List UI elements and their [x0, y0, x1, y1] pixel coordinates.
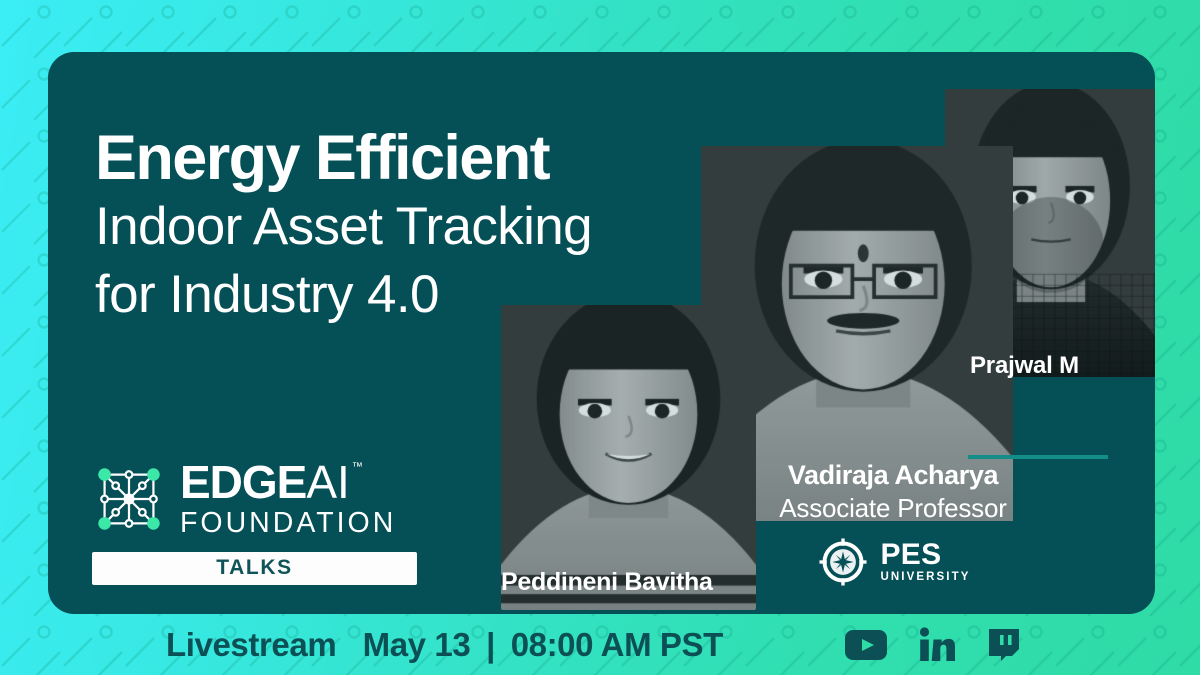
speaker-photo-peddineni-bavitha: [501, 305, 756, 610]
logo-trademark-icon: ™: [352, 462, 362, 473]
logo-row: EDGE AI ™ FOUNDATION: [92, 460, 417, 538]
livestream-separator: |: [479, 626, 502, 663]
page-subtitle-line2: for Industry 4.0: [95, 264, 592, 326]
youtube-link[interactable]: [845, 630, 887, 660]
talks-badge-label: TALKS: [216, 556, 292, 580]
edge-ai-line: EDGE AI ™: [180, 460, 396, 504]
footer-bar: Livestream May 13 | 08:00 AM PST: [0, 614, 1200, 675]
pes-wordmark: PES UNIVERSITY: [880, 540, 970, 584]
livestream-info: Livestream May 13 | 08:00 AM PST: [166, 626, 723, 664]
talks-badge: TALKS: [92, 552, 417, 585]
page-subtitle-line1: Indoor Asset Tracking: [95, 196, 592, 258]
edge-ai-network-icon: [92, 462, 166, 536]
pes-subtitle: UNIVERSITY: [880, 572, 970, 584]
logo-text-ai: AI: [306, 460, 349, 504]
livestream-label: Livestream: [166, 626, 336, 663]
speaker-name-vadiraja-acharya: Vadiraja Acharya: [728, 460, 1058, 491]
social-links: [845, 627, 1021, 663]
speaker-caption-vadiraja-acharya: Vadiraja Acharya Associate Professor: [728, 460, 1108, 590]
pes-name: PES: [880, 540, 970, 570]
logo-text-foundation: FOUNDATION: [180, 509, 396, 538]
webinar-card: Energy Efficient Indoor Asset Tracking f…: [48, 52, 1155, 614]
page-title: Energy Efficient: [95, 126, 592, 190]
edge-ai-foundation-logo: EDGE AI ™ FOUNDATION TALKS: [92, 460, 417, 585]
twitch-link[interactable]: [987, 627, 1021, 663]
caption-accent-line: [968, 455, 1108, 459]
linkedin-link[interactable]: [919, 627, 955, 663]
speaker-role-vadiraja-acharya: Associate Professor: [728, 493, 1058, 524]
livestream-time: 08:00 AM PST: [511, 626, 723, 663]
speaker-name-prajwal-m: Prajwal M: [970, 352, 1079, 380]
youtube-icon[interactable]: [845, 630, 887, 660]
speaker-name-peddineni-bavitha: Peddineni Bavitha: [501, 568, 713, 597]
title-block: Energy Efficient Indoor Asset Tracking f…: [95, 126, 592, 326]
edge-ai-wordmark: EDGE AI ™ FOUNDATION: [180, 460, 396, 538]
livestream-date: May 13: [363, 626, 471, 663]
logo-text-edge: EDGE: [180, 460, 306, 504]
linkedin-icon[interactable]: [919, 627, 955, 663]
pes-compass-icon: [815, 534, 871, 590]
twitch-icon[interactable]: [987, 627, 1021, 663]
pes-university-logo: PES UNIVERSITY: [728, 534, 1058, 590]
